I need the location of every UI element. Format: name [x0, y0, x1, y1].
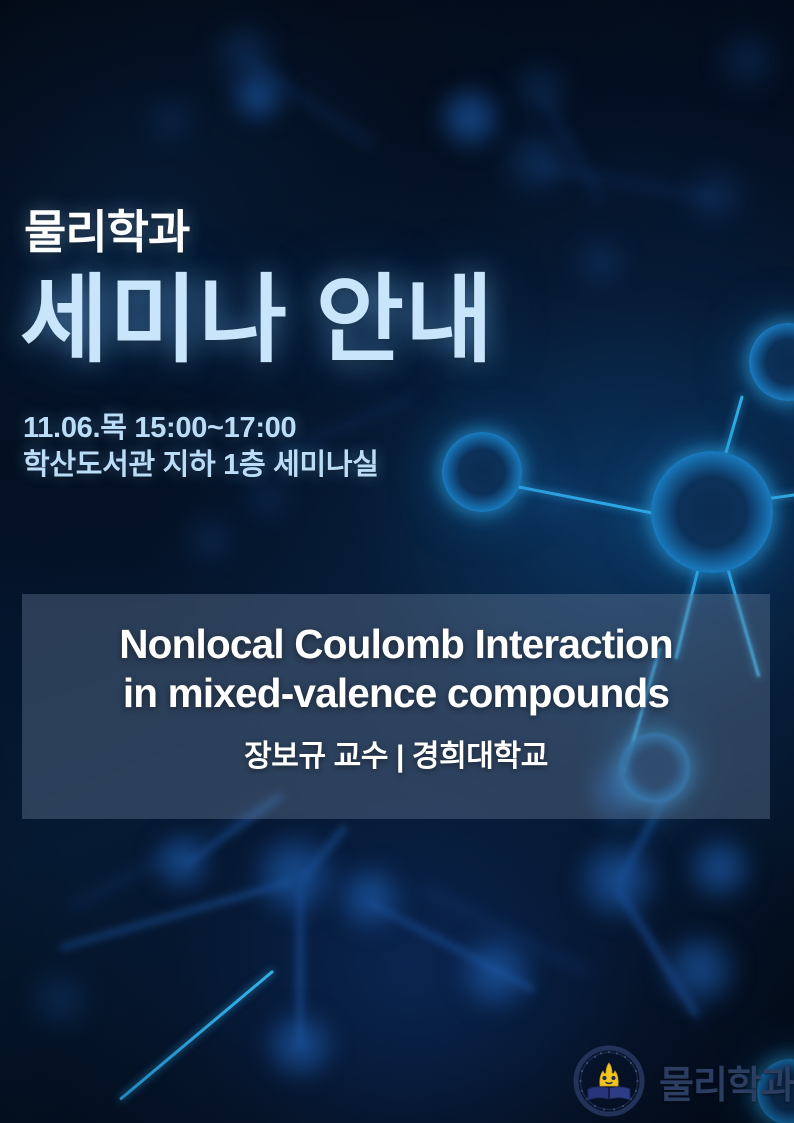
seminar-venue: 학산도서관 지하 1층 세미나실	[23, 447, 379, 484]
talk-title-line-2: in mixed-valence compounds	[38, 669, 754, 718]
seminar-poster: 물리학과 세미나 안내 11.06.목 15:00~17:00 학산도서관 지하…	[0, 0, 794, 1123]
poster-vignette	[0, 0, 794, 1123]
seminar-datetime: 11.06.목 15:00~17:00	[23, 410, 379, 447]
talk-speaker: 장보규 교수 | 경희대학교	[38, 731, 754, 775]
talk-title-panel: Nonlocal Coulomb Interaction in mixed-va…	[22, 594, 770, 819]
page-title: 세미나 안내	[20, 272, 494, 370]
seminar-meta: 11.06.목 15:00~17:00 학산도서관 지하 1층 세미나실	[23, 410, 379, 484]
footer-logo: 물리학과	[573, 1045, 794, 1117]
university-emblem-icon	[573, 1045, 645, 1117]
department-kicker: 물리학과	[24, 196, 189, 262]
logo-wordmark: 물리학과	[659, 1054, 794, 1109]
talk-title-line-1: Nonlocal Coulomb Interaction	[38, 620, 754, 669]
